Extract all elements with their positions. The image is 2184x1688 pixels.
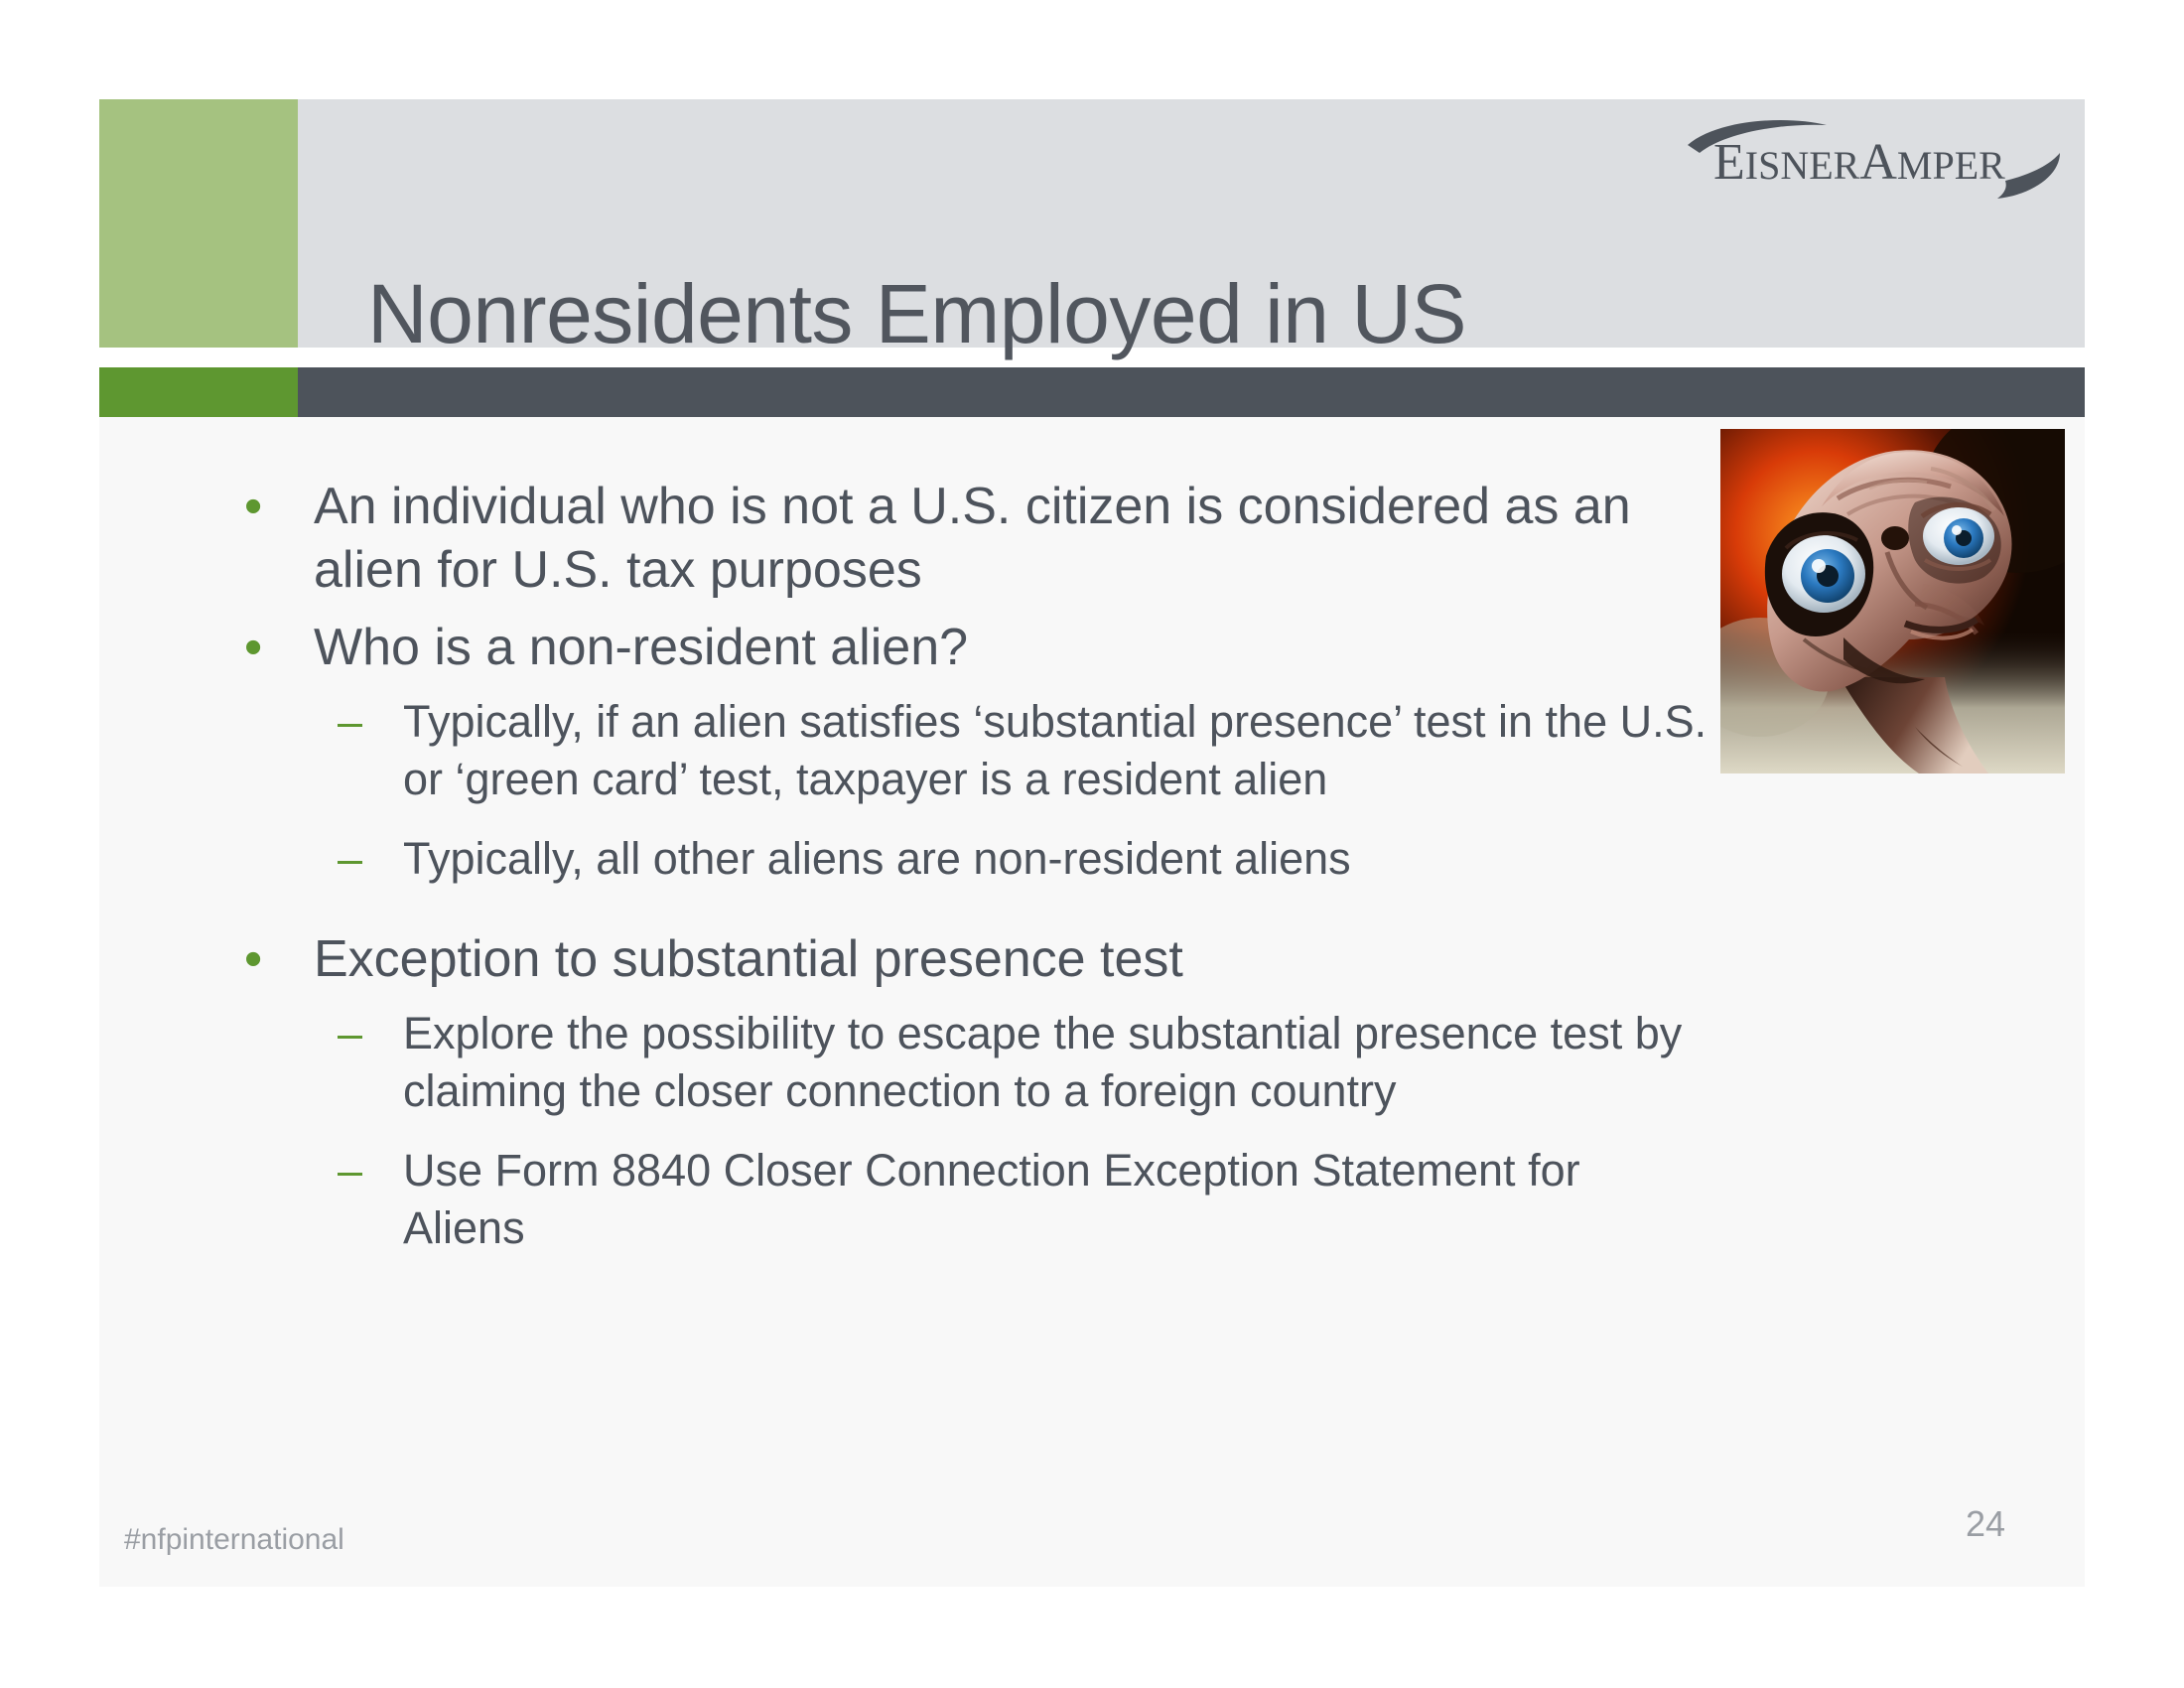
- alien-photo-image: [1720, 429, 2065, 774]
- sub-bullet-item: – Explore the possibility to escape the …: [228, 1005, 1707, 1120]
- bullet-marker-dash-icon: –: [338, 830, 385, 888]
- sub-bullet-text: Typically, if an alien satisfies ‘substa…: [403, 696, 1706, 804]
- bullet-item: • Exception to substantial presence test: [228, 927, 1707, 991]
- bullet-item: • An individual who is not a U.S. citize…: [228, 475, 1707, 602]
- bullet-text: Who is a non-resident alien?: [314, 619, 968, 676]
- sub-bullet-text: Explore the possibility to escape the su…: [403, 1008, 1682, 1116]
- logo-wordmark: EISNERAMPER: [1713, 135, 2005, 194]
- slide: Nonresidents Employed in US EISNERAMPER …: [0, 0, 2184, 1688]
- footer-hashtag: #nfpinternational: [124, 1522, 344, 1558]
- bullet-marker-dot-icon: •: [244, 616, 284, 679]
- sub-bullet-item: – Typically, all other aliens are non-re…: [228, 830, 1707, 888]
- logo-mper: MPER: [1897, 143, 2005, 188]
- header-rule-green: [99, 367, 298, 417]
- list-spacer: [228, 910, 1707, 927]
- bullet-marker-dash-icon: –: [338, 1005, 385, 1062]
- bullet-marker-dot-icon: •: [244, 927, 284, 991]
- sub-bullet-text: Typically, all other aliens are non-resi…: [403, 833, 1351, 884]
- page-number: 24: [1941, 1503, 2030, 1545]
- header-rule-slate: [99, 367, 2085, 417]
- bullet-text: Exception to substantial presence test: [314, 930, 1183, 988]
- bullet-text: An individual who is not a U.S. citizen …: [314, 478, 1631, 599]
- bullet-marker-dash-icon: –: [338, 1142, 385, 1199]
- sub-bullet-item: – Typically, if an alien satisfies ‘subs…: [228, 693, 1707, 808]
- sub-bullet-item: – Use Form 8840 Closer Connection Except…: [228, 1142, 1707, 1257]
- bullet-marker-dot-icon: •: [244, 475, 284, 538]
- header-green-accent-block: [99, 99, 298, 348]
- bullet-list: • An individual who is not a U.S. citize…: [228, 475, 1707, 1279]
- logo-letter-e: E: [1713, 134, 1745, 191]
- bullet-marker-dash-icon: –: [338, 693, 385, 751]
- sub-bullet-text: Use Form 8840 Closer Connection Exceptio…: [403, 1145, 1580, 1253]
- logo-isner: ISNER: [1745, 143, 1860, 188]
- bullet-item: • Who is a non-resident alien?: [228, 616, 1707, 679]
- eisneramper-logo: EISNERAMPER: [1678, 117, 2075, 216]
- logo-letter-a: A: [1859, 134, 1897, 191]
- page-title: Nonresidents Employed in US: [367, 266, 1757, 361]
